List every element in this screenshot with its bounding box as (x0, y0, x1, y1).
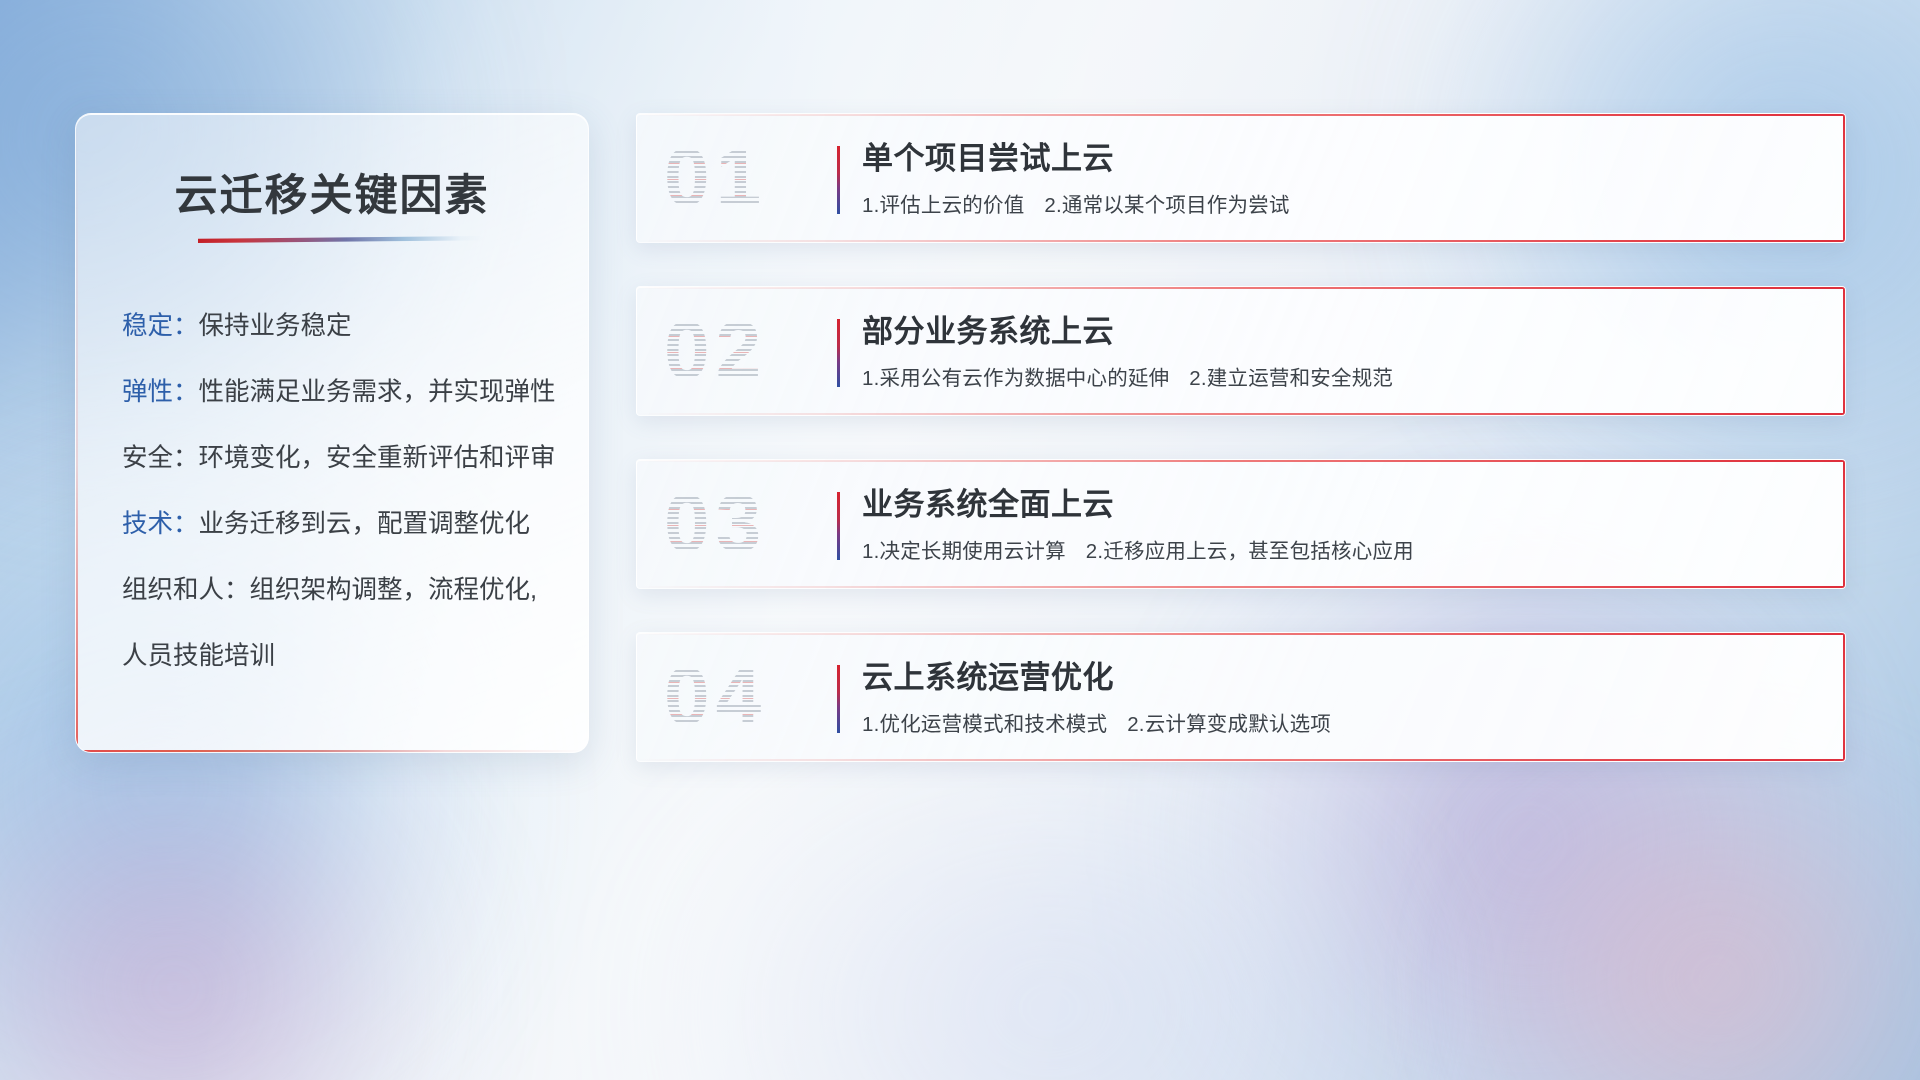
factor-row: 稳定：保持业务稳定 (122, 312, 564, 340)
card-right-edge (1843, 287, 1845, 415)
card-right-edge (1843, 633, 1845, 761)
card-divider (837, 146, 840, 214)
key-factors-panel: 云迁移关键因素 稳定：保持业务稳定弹性：性能满足业务需求，并实现弹性安全：环境变… (75, 113, 589, 753)
card-subtitle: 1.采用公有云作为数据中心的延伸2.建立运营和安全规范 (862, 361, 1817, 391)
factor-key: 弹性： (122, 378, 199, 406)
card-point-1: 1.评估上云的价值 (862, 194, 1024, 217)
stage-card[interactable]: 0101单个项目尝试上云1.评估上云的价值2.通常以某个项目作为尝试 (636, 113, 1846, 243)
stage-card[interactable]: 0202部分业务系统上云1.采用公有云作为数据中心的延伸2.建立运营和安全规范 (636, 286, 1846, 416)
card-point-2: 2.迁移应用上云，甚至包括核心应用 (1086, 540, 1414, 563)
factor-row: 组织和人：组织架构调整，流程优化, (122, 576, 564, 604)
card-number: 03 (664, 477, 767, 571)
title-underline-rule (198, 236, 483, 243)
card-divider (837, 319, 840, 387)
card-body: 单个项目尝试上云1.评估上云的价值2.通常以某个项目作为尝试 (862, 140, 1817, 218)
factor-row: 人员技能培训 (122, 642, 564, 670)
factor-key: 技术： (122, 510, 199, 538)
factor-row: 弹性：性能满足业务需求，并实现弹性 (122, 378, 564, 406)
stage-card[interactable]: 0303业务系统全面上云1.决定长期使用云计算2.迁移应用上云，甚至包括核心应用 (636, 459, 1846, 589)
card-point-1: 1.决定长期使用云计算 (862, 540, 1066, 563)
factor-text: 环境变化，安全重新评估和评审 (199, 444, 556, 472)
factor-row: 安全：环境变化，安全重新评估和评审 (122, 444, 564, 472)
stage-card[interactable]: 0404云上系统运营优化1.优化运营模式和技术模式2.云计算变成默认选项 (636, 632, 1846, 762)
card-body: 云上系统运营优化1.优化运营模式和技术模式2.云计算变成默认选项 (862, 659, 1817, 737)
card-subtitle: 1.决定长期使用云计算2.迁移应用上云，甚至包括核心应用 (862, 534, 1817, 564)
slide-stage: 云迁移关键因素 稳定：保持业务稳定弹性：性能满足业务需求，并实现弹性安全：环境变… (0, 0, 1920, 1080)
card-body: 部分业务系统上云1.采用公有云作为数据中心的延伸2.建立运营和安全规范 (862, 313, 1817, 391)
card-divider (837, 665, 840, 733)
factor-list: 稳定：保持业务稳定弹性：性能满足业务需求，并实现弹性安全：环境变化，安全重新评估… (122, 312, 564, 670)
factor-text: 保持业务稳定 (199, 312, 352, 340)
card-title: 业务系统全面上云 (862, 486, 1817, 524)
card-right-edge (1843, 114, 1845, 242)
card-point-1: 1.采用公有云作为数据中心的延伸 (862, 367, 1169, 390)
card-number: 04 (664, 650, 767, 744)
factor-row: 技术：业务迁移到云，配置调整优化 (122, 510, 564, 538)
factor-text: 业务迁移到云，配置调整优化 (199, 510, 531, 538)
factor-key: 稳定： (122, 312, 199, 340)
factor-text: 组织架构调整，流程优化, (250, 576, 538, 604)
card-title: 云上系统运营优化 (862, 659, 1817, 697)
card-right-edge (1843, 460, 1845, 588)
card-subtitle: 1.优化运营模式和技术模式2.云计算变成默认选项 (862, 707, 1817, 737)
factor-key: 安全： (122, 444, 199, 472)
factor-text: 人员技能培训 (122, 642, 275, 670)
stage-card-list: 0101单个项目尝试上云1.评估上云的价值2.通常以某个项目作为尝试0202部分… (636, 113, 1846, 762)
card-point-1: 1.优化运营模式和技术模式 (862, 713, 1107, 736)
page-title: 云迁移关键因素 (76, 161, 588, 223)
card-number: 01 (664, 131, 767, 225)
card-divider (837, 492, 840, 560)
card-point-2: 2.建立运营和安全规范 (1189, 367, 1393, 390)
card-number: 02 (664, 304, 767, 398)
card-subtitle: 1.评估上云的价值2.通常以某个项目作为尝试 (862, 188, 1817, 218)
factor-text: 性能满足业务需求，并实现弹性 (199, 378, 556, 406)
card-title: 部分业务系统上云 (862, 313, 1817, 351)
card-body: 业务系统全面上云1.决定长期使用云计算2.迁移应用上云，甚至包括核心应用 (862, 486, 1817, 564)
card-title: 单个项目尝试上云 (862, 140, 1817, 178)
card-point-2: 2.云计算变成默认选项 (1127, 713, 1331, 736)
card-point-2: 2.通常以某个项目作为尝试 (1044, 194, 1289, 217)
factor-key: 组织和人： (122, 576, 250, 604)
